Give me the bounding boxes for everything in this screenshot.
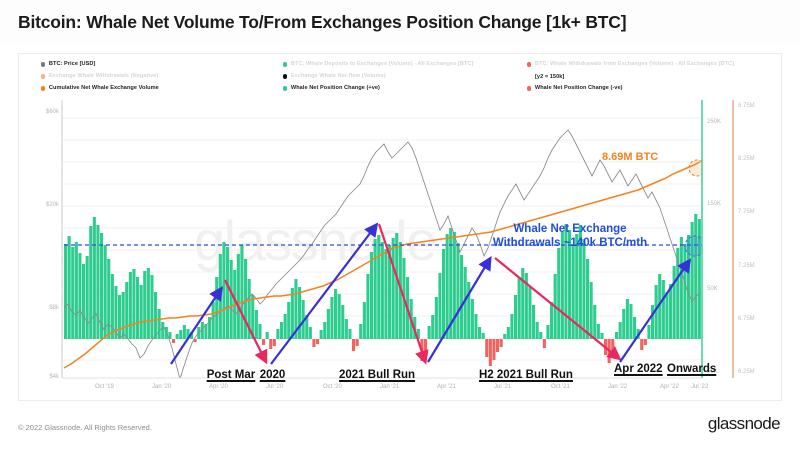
annotation-phase-line1: Post Mar bbox=[207, 369, 256, 381]
x-tick-4: Oct '20 bbox=[323, 384, 342, 390]
annotation-withdrawals-callout: Whale Net Exchange Withdrawals ~140k BTC… bbox=[455, 222, 685, 250]
x-tick-5: Jan '21 bbox=[380, 384, 399, 390]
y-left-tick-0: $60k bbox=[27, 109, 59, 115]
x-tick-6: Apr '21 bbox=[437, 384, 456, 390]
y-right2-tick-1: 8.25M bbox=[738, 156, 755, 162]
legend-dot-icon bbox=[41, 62, 45, 66]
annotation-phase-line1: 2021 Bull Run bbox=[339, 369, 415, 381]
copyright-text: © 2022 Glassnode. All Rights Reserved. bbox=[18, 423, 152, 432]
legend-dot-icon bbox=[527, 86, 531, 90]
y-right2-tick-5: 6.25M bbox=[738, 369, 755, 375]
x-tick-7: Jul '21 bbox=[494, 384, 511, 390]
legend-item-btc-price[interactable]: BTC: Price [USD] bbox=[41, 59, 159, 70]
legend-label: BTC: Whale Deposits to Exchanges (Volume… bbox=[291, 61, 473, 68]
legend-dot-icon bbox=[283, 86, 287, 90]
y-right2-tick-4: 6.75M bbox=[738, 316, 755, 322]
chart-legend: BTC: Price [USD] Exchange Whale Withdraw… bbox=[19, 54, 783, 96]
legend-column-3: BTC: Whale Withdrawals from Exchanges (V… bbox=[527, 59, 734, 95]
series-whale-net-position-negative bbox=[172, 339, 647, 366]
title-bar: Bitcoin: Whale Net Volume To/From Exchan… bbox=[0, 0, 800, 44]
x-tick-1: Jan '20 bbox=[152, 384, 171, 390]
x-tick-3: Jul '20 bbox=[266, 384, 283, 390]
y-right1-tick-0: 250K bbox=[707, 119, 721, 125]
y-right2-tick-2: 7.75M bbox=[738, 209, 755, 215]
legend-dot-icon bbox=[283, 74, 287, 78]
legend-item-whale-deposits[interactable]: BTC: Whale Deposits to Exchanges (Volume… bbox=[283, 59, 473, 70]
legend-dot-icon bbox=[527, 62, 531, 66]
annotation-phase-h2-2021-bull-run: H2 2021 Bull Run bbox=[479, 365, 573, 383]
legend-label: BTC: Price [USD] bbox=[49, 61, 96, 68]
x-tick-0: Oct '19 bbox=[95, 384, 114, 390]
x-tick-9: Jan '22 bbox=[608, 384, 627, 390]
y-right1-tick-1: 150K bbox=[707, 201, 721, 207]
y-left-tick-3: $4k bbox=[27, 374, 59, 380]
legend-column-1: BTC: Price [USD] Exchange Whale Withdraw… bbox=[41, 59, 159, 95]
screenshot-root: Bitcoin: Whale Net Volume To/From Exchan… bbox=[0, 0, 800, 461]
legend-item-whale-net-position-change-negative[interactable]: Whale Net Position Change (-ve) bbox=[527, 83, 734, 94]
annotation-phase-post-mar-2020: Post Mar 2020 bbox=[199, 365, 293, 383]
annotation-withdrawals-line2: Withdrawals ~140k BTC/mth bbox=[493, 237, 647, 249]
annotation-phase-line1: H2 2021 Bull Run bbox=[479, 369, 573, 381]
annotation-phase-line2: 2020 bbox=[260, 369, 286, 381]
x-tick-10: Apr '22 bbox=[660, 384, 679, 390]
legend-label: Exchange Whale Withdrawals (Negative) bbox=[49, 73, 158, 80]
legend-item-exchange-whale-withdrawals[interactable]: Exchange Whale Withdrawals (Negative) bbox=[41, 71, 159, 82]
footer: © 2022 Glassnode. All Rights Reserved. g… bbox=[0, 408, 800, 461]
downtrend-late-2021-arrow bbox=[495, 258, 616, 356]
y-right2-tick-3: 7.25M bbox=[738, 263, 755, 269]
page-title: Bitcoin: Whale Net Volume To/From Exchan… bbox=[18, 12, 626, 33]
legend-item-whale-net-position-change-positive[interactable]: Whale Net Position Change (+ve) bbox=[283, 83, 473, 94]
x-tick-2: Apr '20 bbox=[209, 384, 228, 390]
legend-axis-note-label: [y2 = 150k] bbox=[535, 73, 564, 81]
legend-dot-icon bbox=[41, 86, 45, 90]
annotation-cumulative-value: 8.69M BTC bbox=[602, 151, 658, 163]
y-left-tick-1: $20k bbox=[27, 202, 59, 208]
annotation-phase-line2: Onwards bbox=[667, 363, 716, 375]
legend-column-2: BTC: Whale Deposits to Exchanges (Volume… bbox=[283, 59, 473, 95]
y-right2-tick-0: 8.75M bbox=[738, 103, 755, 109]
glassnode-logo: glassnode bbox=[708, 414, 780, 434]
y-right1-tick-2: 50K bbox=[707, 286, 718, 292]
legend-axis-note: [y2 = 150k] bbox=[527, 71, 734, 82]
annotation-phase-2021-bull-run: 2021 Bull Run bbox=[339, 365, 415, 383]
y-left-tick-2: $8k bbox=[27, 305, 59, 311]
legend-item-exchange-whale-netflow[interactable]: Exchange Whale Net-flow (Volume) bbox=[283, 71, 473, 82]
legend-label: Cumulative Net Whale Exchange Volume bbox=[49, 85, 159, 92]
annotation-phase-line1: Apr 2022 bbox=[614, 363, 663, 375]
chart-card: BTC: Price [USD] Exchange Whale Withdraw… bbox=[18, 53, 782, 401]
annotation-phase-apr-2022: Apr 2022 Onwards bbox=[614, 359, 702, 377]
legend-label: BTC: Whale Withdrawals from Exchanges (V… bbox=[535, 61, 734, 68]
legend-dot-icon bbox=[41, 74, 45, 78]
legend-dot-icon bbox=[283, 62, 287, 66]
x-tick-11: Jul '22 bbox=[691, 384, 708, 390]
x-tick-8: Oct '21 bbox=[551, 384, 570, 390]
annotation-withdrawals-line1: Whale Net Exchange bbox=[513, 223, 626, 235]
legend-label: Whale Net Position Change (+ve) bbox=[291, 85, 380, 92]
legend-item-cumulative-net-whale-exchange-volume[interactable]: Cumulative Net Whale Exchange Volume bbox=[41, 83, 159, 94]
legend-label: Exchange Whale Net-flow (Volume) bbox=[291, 73, 386, 80]
legend-item-whale-withdrawals[interactable]: BTC: Whale Withdrawals from Exchanges (V… bbox=[527, 59, 734, 70]
plot-area: glassnode bbox=[19, 96, 783, 402]
legend-label: Whale Net Position Change (-ve) bbox=[535, 85, 623, 92]
